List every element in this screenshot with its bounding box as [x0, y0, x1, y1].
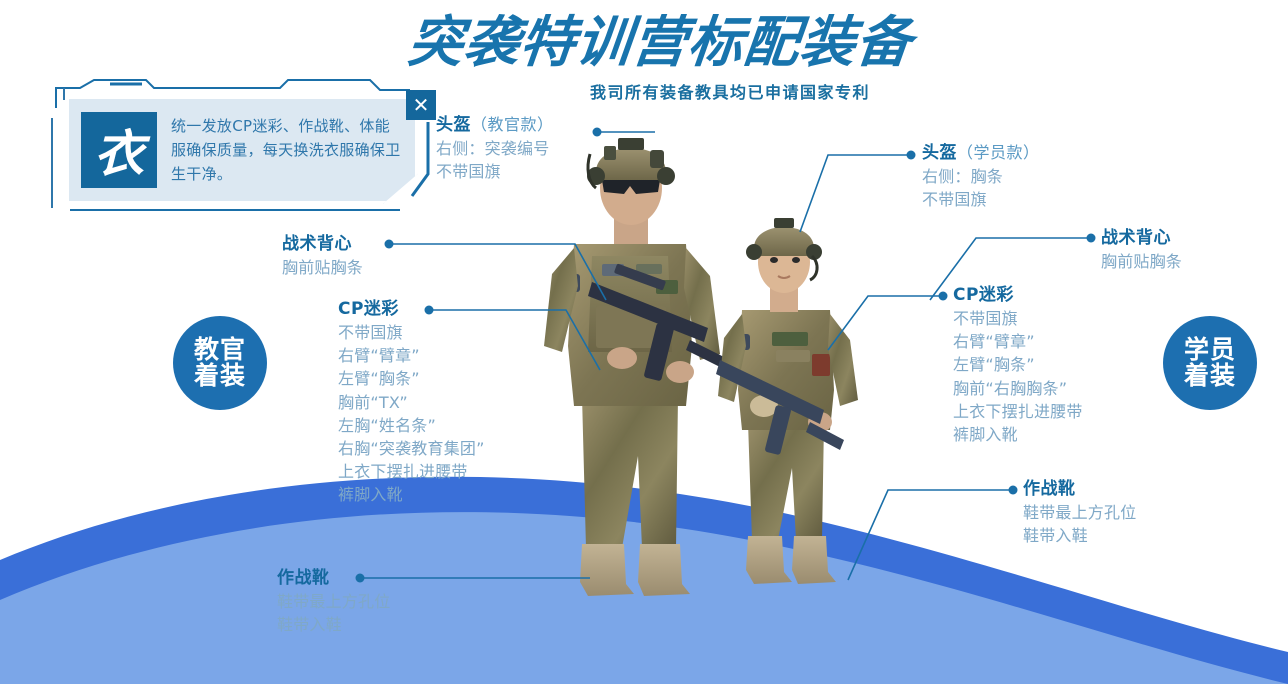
page-title-block: 突袭特训营标配装备 我司所有装备教具均已申请国家专利	[360, 14, 960, 103]
leader-dot	[1087, 234, 1096, 243]
boot-right	[792, 536, 836, 584]
close-icon[interactable]: ✕	[406, 90, 436, 120]
callout-line: 右胸“突袭教育集团”	[338, 437, 485, 460]
callout-line: 裤脚入靴	[338, 483, 485, 506]
leader-dot	[1009, 486, 1018, 495]
soldiers-photo	[530, 96, 930, 616]
boot-left	[746, 536, 792, 584]
badge-line-1: 教官	[194, 337, 246, 363]
callout-combat-boots-trainee: 作战靴 鞋带最上方孔位 鞋带入鞋	[1023, 478, 1136, 547]
trainee-figure	[716, 218, 858, 584]
callout-line: 左臂“胸条”	[338, 367, 485, 390]
callout-line: 上衣下摆扎进腰带	[953, 400, 1083, 423]
badge-line-2: 着装	[194, 363, 246, 389]
callout-line: 鞋带入鞋	[277, 613, 390, 636]
callout-line: 不带国旗	[436, 160, 554, 183]
boot-left	[580, 544, 634, 596]
info-card-body: 衣 统一发放CP迷彩、作战靴、体能服确保质量，每天换洗衣服确保卫生干净。	[66, 96, 418, 204]
leader-dot	[939, 292, 948, 301]
callout-title: 作战靴	[277, 567, 390, 590]
info-card-text: 统一发放CP迷彩、作战靴、体能服确保质量，每天换洗衣服确保卫生干净。	[171, 114, 405, 187]
callout-line: 右侧：胸条	[922, 165, 1040, 188]
badge-trainee-outfit: 学员 着装	[1163, 316, 1257, 410]
callout-title: CP迷彩	[953, 284, 1083, 307]
boot-right	[638, 544, 690, 596]
badge-line-2: 着装	[1184, 363, 1236, 389]
infographic-poster: 突袭特训营标配装备 我司所有装备教具均已申请国家专利 衣 统一发放CP迷彩、作战…	[0, 0, 1288, 684]
leader-dot	[385, 240, 394, 249]
page-title: 突袭特训营标配装备	[357, 14, 963, 72]
badge-instructor-outfit: 教官 着装	[173, 316, 267, 410]
info-card: 衣 统一发放CP迷彩、作战靴、体能服确保质量，每天换洗衣服确保卫生干净。 ✕	[50, 78, 450, 213]
callout-line: 不带国旗	[338, 321, 485, 344]
callout-line: 右臂“臂章”	[953, 330, 1083, 353]
callout-line: 不带国旗	[922, 188, 1040, 211]
callout-line: 鞋带入鞋	[1023, 524, 1136, 547]
callout-line: 胸前“右胸胸条”	[953, 377, 1083, 400]
callout-line: 鞋带最上方孔位	[277, 590, 390, 613]
callout-title: 战术背心	[282, 233, 363, 256]
instructor-figure	[544, 138, 726, 596]
callout-title: 作战靴	[1023, 478, 1136, 501]
callout-line: 左胸“姓名条”	[338, 414, 485, 437]
callout-cp-camo-trainee: CP迷彩 不带国旗 右臂“臂章” 左臂“胸条” 胸前“右胸胸条” 上衣下摆扎进腰…	[953, 284, 1083, 446]
callout-tactical-vest-trainee: 战术背心 胸前贴胸条	[1101, 227, 1182, 273]
badge-line-1: 学员	[1184, 337, 1236, 363]
callout-line: 胸前“TX”	[338, 391, 485, 414]
callout-title: 战术背心	[1101, 227, 1182, 250]
callout-line: 不带国旗	[953, 307, 1083, 330]
callout-line: 右臂“臂章”	[338, 344, 485, 367]
callout-line: 左臂“胸条”	[953, 353, 1083, 376]
callout-cp-camo-instructor: CP迷彩 不带国旗 右臂“臂章” 左臂“胸条” 胸前“TX” 左胸“姓名条” 右…	[338, 298, 485, 506]
callout-line: 右侧：突袭编号	[436, 137, 554, 160]
callout-line: 裤脚入靴	[953, 423, 1083, 446]
callout-helmet-trainee: 头盔（学员款） 右侧：胸条 不带国旗	[922, 142, 1040, 211]
page-subtitle: 我司所有装备教具均已申请国家专利	[360, 79, 960, 103]
callout-helmet-instructor: 头盔（教官款） 右侧：突袭编号 不带国旗	[436, 114, 554, 183]
callout-title: CP迷彩	[338, 298, 485, 321]
clothing-glyph-icon: 衣	[81, 112, 157, 188]
callout-title: 头盔（教官款）	[436, 114, 554, 137]
callout-title: 头盔（学员款）	[922, 142, 1040, 165]
callout-tactical-vest-instructor: 战术背心 胸前贴胸条	[282, 233, 363, 279]
callout-line: 胸前贴胸条	[1101, 250, 1182, 273]
callout-line: 上衣下摆扎进腰带	[338, 460, 485, 483]
callout-line: 鞋带最上方孔位	[1023, 501, 1136, 524]
callout-line: 胸前贴胸条	[282, 256, 363, 279]
callout-combat-boots-instructor: 作战靴 鞋带最上方孔位 鞋带入鞋	[277, 567, 390, 636]
